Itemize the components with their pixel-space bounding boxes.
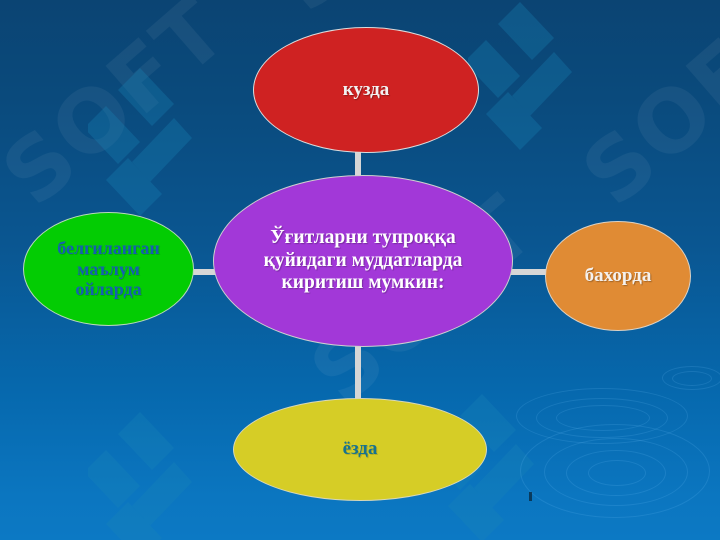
ripple-ring: [662, 366, 720, 390]
ripple-ring: [516, 388, 688, 444]
soft-logo-glyph-icon: [468, 0, 572, 150]
ripple-ring: [588, 460, 646, 486]
slide-canvas: SOFT SOFT SOFT SOFT: [0, 0, 720, 540]
watermark-text: SOFT: [564, 0, 720, 225]
node-belgilangan-malum-oylarda-label: белгиланган маълум ойларда: [24, 238, 193, 301]
node-bahorda[interactable]: бахорда: [545, 221, 691, 331]
ripple-ring: [520, 424, 710, 518]
ripple-ring: [544, 438, 688, 506]
node-kuzda[interactable]: кузда: [253, 27, 479, 153]
node-belgilangan-malum-oylarda[interactable]: белгиланган маълум ойларда: [23, 212, 194, 326]
node-center-hub[interactable]: Ўғитларни тупроққа қуйидаги муддатларда …: [213, 175, 513, 347]
node-center-hub-label: Ўғитларни тупроққа қуйидаги муддатларда …: [224, 227, 501, 295]
node-bahorda-label: бахорда: [546, 265, 690, 287]
ripple-ring: [556, 405, 650, 431]
node-yozda[interactable]: ёзда: [233, 398, 487, 501]
ripple-ring: [672, 371, 712, 386]
ripple-ring: [536, 398, 668, 438]
watermark-text: SOFT: [0, 0, 246, 225]
soft-logo-glyph-icon: [88, 410, 192, 540]
soft-logo-glyph-icon: [88, 66, 192, 216]
ripple-ring: [566, 450, 666, 496]
mouse-cursor: [529, 492, 532, 501]
node-kuzda-label: кузда: [254, 79, 478, 101]
watermark-text: SOFT: [256, 0, 518, 31]
node-yozda-label: ёзда: [234, 438, 486, 460]
